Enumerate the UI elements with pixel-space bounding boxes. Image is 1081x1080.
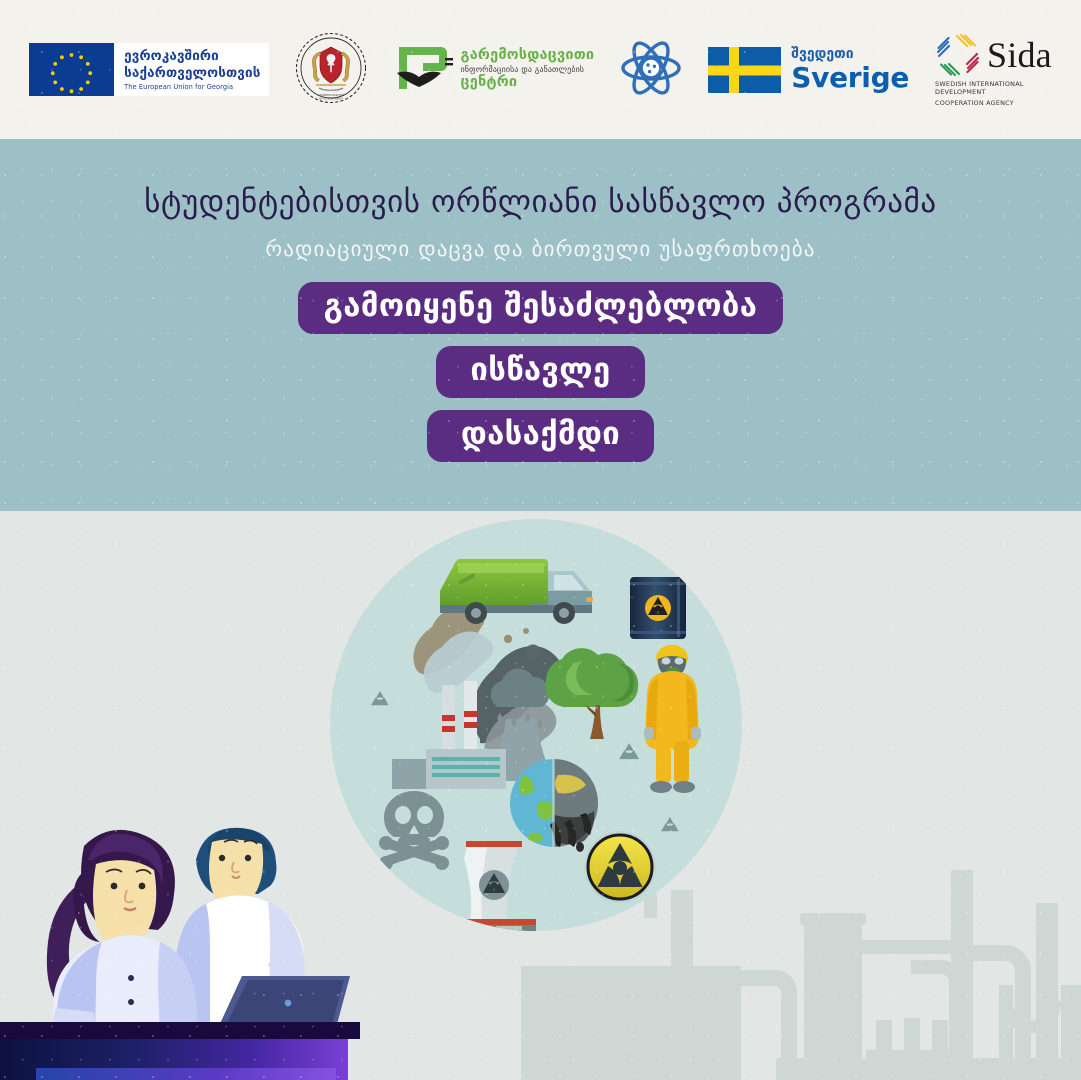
- eu-logo-ka-line1: ევროკავშირი: [124, 48, 260, 64]
- environment-illustration: [330, 519, 742, 931]
- logo-sida: Sida SWEDISH INTERNATIONAL DEVELOPMENT C…: [935, 32, 1052, 108]
- tree-icon: [545, 648, 638, 739]
- sida-wordmark: Sida: [987, 37, 1052, 73]
- desk: [0, 1022, 372, 1080]
- sweden-flag-icon: [708, 47, 781, 93]
- badge-opportunity[interactable]: გამოიყენე შესაძლებლობა: [298, 282, 784, 334]
- program-title: სტუდენტებისთვის ორწლიანი სასწავლო პროგრა…: [0, 184, 1081, 220]
- sida-pinwheel-icon: [935, 32, 981, 78]
- hazmat-worker-icon: [644, 645, 701, 793]
- poster-root: ევროკავშირი საქართველოსთვის The European…: [0, 0, 1081, 1080]
- sida-subtitle-line2: COOPERATION AGENCY: [935, 99, 1014, 108]
- logo-government-of-georgia-seal: ADMINISTRATION OF GOVERNMENT: [295, 32, 367, 108]
- eiec-book-mark-icon: [393, 41, 453, 99]
- svg-text:OF GOVERNMENT: OF GOVERNMENT: [320, 97, 344, 100]
- eiec-line3: ცენტრი: [460, 75, 594, 91]
- factory-building-icon: [392, 749, 506, 789]
- sponsor-logo-bar: ევროკავშირი საქართველოსთვის The European…: [0, 0, 1081, 139]
- illustration-icons-group: [330, 519, 742, 931]
- eu-stars-icon: [29, 43, 114, 96]
- eu-flag-icon: [29, 43, 114, 96]
- desk-accent-strip: [36, 1068, 336, 1080]
- sida-subtitle-line1: SWEDISH INTERNATIONAL DEVELOPMENT: [935, 80, 1052, 97]
- badge-study[interactable]: ისწავლე: [436, 346, 644, 398]
- eu-logo-ka-line2: საქართველოსთვის: [124, 65, 260, 81]
- desk-top-surface: [0, 1022, 360, 1039]
- logo-nuclear-radiation-safety-agency: [620, 37, 682, 103]
- badge-employment[interactable]: დასაქმდი: [427, 410, 654, 462]
- badge-group: გამოიყენე შესაძლებლობა ისწავლე დასაქმდი: [0, 282, 1081, 462]
- eu-logo-en-line: The European Union for Georgia: [124, 83, 260, 91]
- logo-sweden-sverige: შვედეთი Sverige: [708, 47, 909, 93]
- svg-text:ADMINISTRATION: ADMINISTRATION: [318, 93, 345, 97]
- sweden-en-label: Sverige: [791, 64, 909, 92]
- georgia-coat-of-arms-icon: ADMINISTRATION OF GOVERNMENT: [295, 32, 367, 104]
- logo-european-union-for-georgia: ევროკავშირი საქართველოსთვის The European…: [29, 43, 269, 96]
- skull-crossbones-icon: [379, 791, 449, 870]
- nuclear-cooling-tower-icon: [458, 841, 536, 931]
- radiation-warning-icon: [584, 831, 656, 903]
- eiec-line1: გარემოსდაცვითი: [460, 48, 594, 63]
- atom-orbit-icon: [620, 37, 682, 99]
- heading-block: სტუდენტებისთვის ორწლიანი სასწავლო პროგრა…: [0, 139, 1081, 462]
- radioactive-barrel-icon: [630, 577, 686, 639]
- program-subtitle: რადიაციული დაცვა და ბირთვული უსაფრთხოება: [0, 237, 1081, 261]
- polluted-earth-globe-icon: [510, 759, 598, 852]
- logo-environmental-information-education-center: გარემოსდაცვითი ინფორმაციისა და განათლები…: [393, 41, 594, 99]
